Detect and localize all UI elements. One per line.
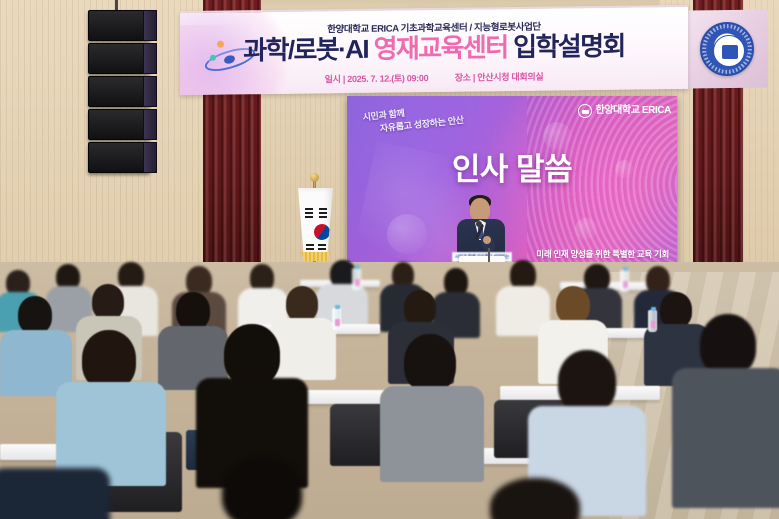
slide-footer: 미래 인재 양성을 위한 특별한 교육 기회 (536, 248, 669, 260)
microphone-head (476, 221, 482, 227)
audience-area (0, 262, 779, 519)
banner-date-value: 2025. 7. 12.(토) 09:00 (347, 73, 428, 84)
university-logo-badge-icon (578, 104, 592, 118)
line-array-speakers (88, 6, 150, 174)
flag-fringe (301, 252, 330, 261)
screen-bubble (387, 214, 427, 254)
flag-finial (310, 173, 319, 182)
banner-date-label: 일시 (325, 74, 341, 84)
banner-sep-2: | (473, 72, 475, 82)
banner-sep-1: | (343, 74, 345, 84)
flag-cloth (298, 188, 333, 254)
banner-title-part-3: 입학설명회 (508, 31, 625, 62)
banner-title-part-2: 영재교육센터 (374, 32, 508, 64)
university-logo-text: 한양대학교 ERICA (596, 106, 672, 116)
slide-headline: 인사 말씀 (347, 144, 677, 189)
banner-place-label: 장소 (455, 73, 471, 83)
presenter-hand (483, 236, 491, 244)
university-seal-icon (700, 22, 754, 76)
banner-title-part-1: 과학/로봇·AI (243, 34, 373, 66)
banner-title: 과학/로봇·AI 영재교육센터 입학설명회 (180, 29, 688, 67)
banner-place-value: 안산시청 대회의실 (477, 72, 543, 83)
event-banner: 한양대학교 ERICA 기초과학교육센터 / 지능형로봇사업단 과학/로봇·AI… (180, 5, 688, 95)
event-photo-scene: 한양대학교 ERICA 기초과학교육센터 / 지능형로봇사업단 과학/로봇·AI… (0, 0, 779, 519)
city-slogan: 시민과 함께 자유롭고 성장하는 안산 (362, 97, 504, 137)
university-logo: 한양대학교 ERICA (578, 103, 672, 119)
taeguk-symbol-icon (311, 221, 333, 243)
screen-bubble (575, 218, 597, 240)
